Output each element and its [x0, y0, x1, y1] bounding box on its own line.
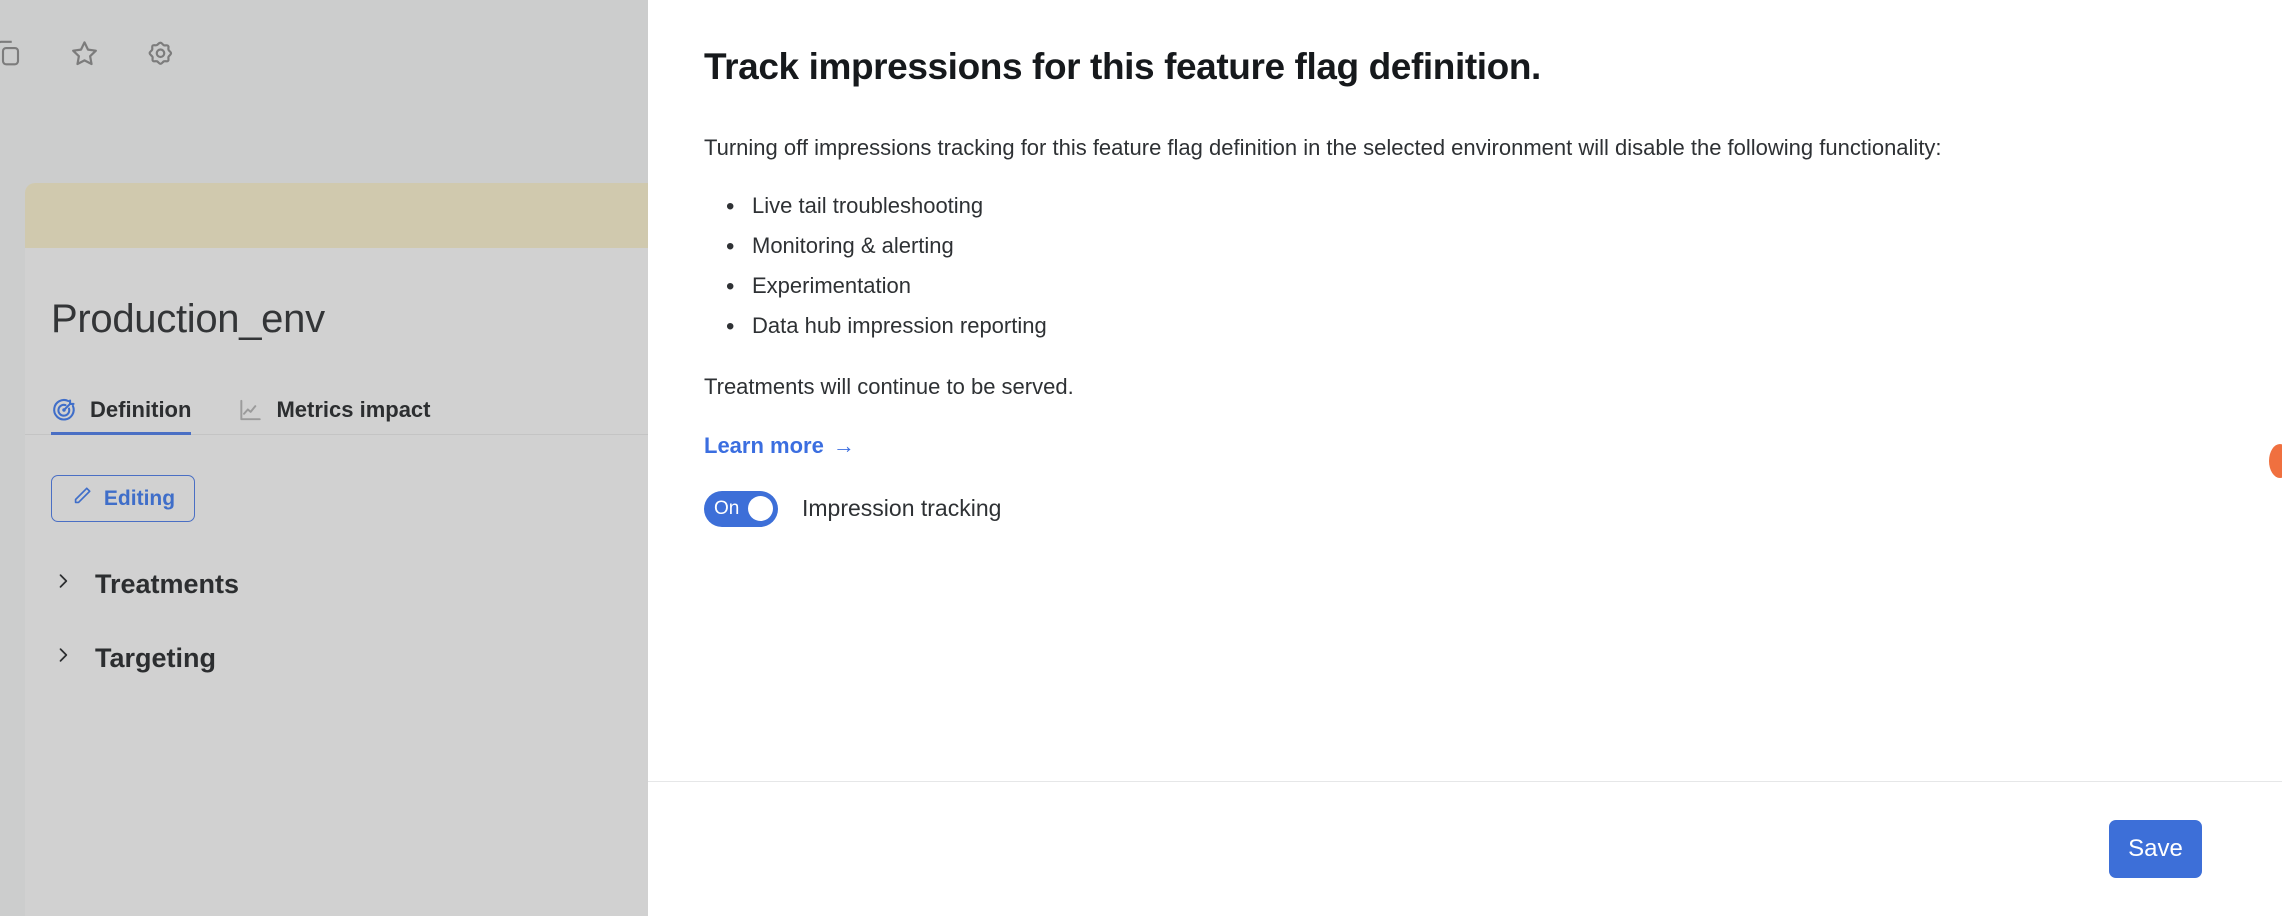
tab-metrics-impact[interactable]: Metrics impact [237, 397, 430, 434]
line-chart-icon [237, 397, 263, 423]
environment-card: Production_env Definition [25, 183, 649, 916]
list-item: Monitoring & alerting [752, 231, 2226, 262]
section-treatments-label: Treatments [95, 569, 239, 600]
modal-title: Track impressions for this feature flag … [704, 46, 2226, 88]
card-banner [25, 183, 649, 248]
pencil-icon [71, 485, 93, 513]
tab-definition[interactable]: Definition [51, 397, 191, 434]
tab-metrics-impact-label: Metrics impact [276, 397, 430, 423]
impression-tracking-toggle[interactable]: On [704, 491, 778, 527]
app-backdrop: Production_env Definition [0, 0, 649, 916]
impression-tracking-modal: Track impressions for this feature flag … [648, 0, 2282, 916]
arrow-right-icon: → [833, 433, 855, 459]
list-item: Experimentation [752, 271, 2226, 302]
impression-tracking-label: Impression tracking [802, 495, 1001, 522]
chevron-right-icon [53, 643, 73, 674]
list-item: Data hub impression reporting [752, 311, 2226, 342]
chevron-right-icon [53, 569, 73, 600]
editing-button-label: Editing [104, 487, 175, 511]
toggle-knob [748, 496, 773, 521]
modal-footer: Save [648, 781, 2282, 916]
modal-intro-text: Turning off impressions tracking for thi… [704, 131, 2204, 164]
treatments-served-note: Treatments will continue to be served. [704, 374, 2226, 400]
section-treatments[interactable]: Treatments [25, 569, 649, 600]
tab-definition-label: Definition [90, 397, 191, 423]
modal-body: Track impressions for this feature flag … [648, 0, 2282, 781]
gear-icon[interactable] [138, 31, 182, 75]
section-targeting-label: Targeting [95, 643, 216, 674]
target-icon [51, 397, 77, 423]
save-button[interactable]: Save [2109, 820, 2202, 878]
learn-more-link[interactable]: Learn more → [704, 433, 855, 459]
star-icon[interactable] [62, 31, 106, 75]
list-item: Live tail troubleshooting [752, 191, 2226, 222]
toggle-state-label: On [714, 499, 739, 518]
card-tabs: Definition Metrics impact [25, 384, 649, 435]
learn-more-label: Learn more [704, 433, 824, 459]
editing-button[interactable]: Editing [51, 475, 195, 522]
backdrop-toolbar [0, 30, 182, 76]
disabled-functionality-list: Live tail troubleshooting Monitoring & a… [704, 191, 2226, 341]
environment-title: Production_env [25, 248, 649, 342]
impression-tracking-row: On Impression tracking [704, 491, 2226, 527]
copy-icon[interactable] [0, 31, 30, 75]
section-targeting[interactable]: Targeting [25, 643, 649, 674]
